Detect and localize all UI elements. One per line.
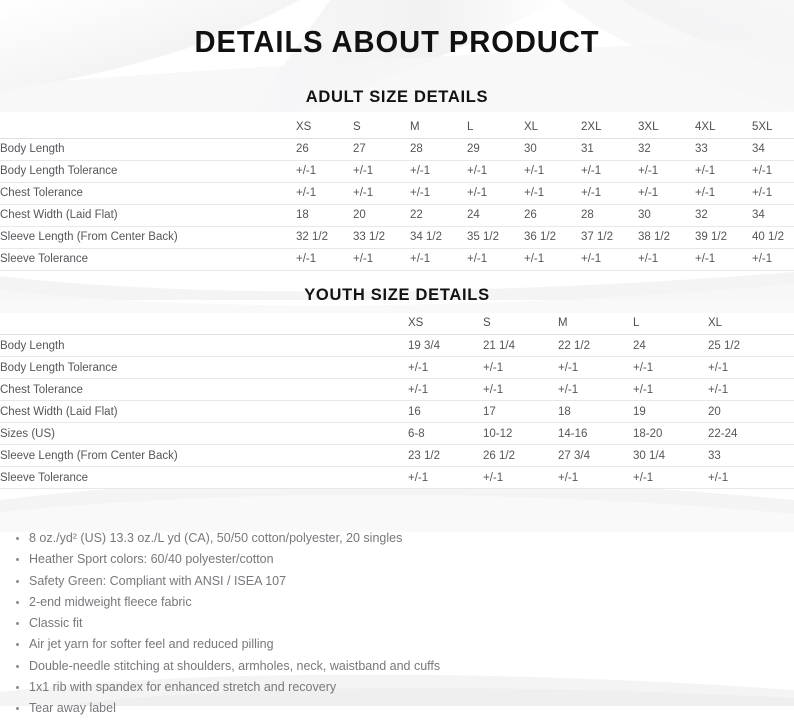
- youth-cell: 19 3/4: [408, 335, 483, 357]
- youth-cell: +/-1: [408, 379, 483, 401]
- youth-row-label: Body Length: [0, 335, 408, 357]
- adult-cell: +/-1: [467, 160, 524, 182]
- youth-cell: 19: [633, 401, 708, 423]
- bullet-dot-icon: [16, 601, 19, 604]
- youth-row-label: Chest Width (Laid Flat): [0, 401, 408, 423]
- table-row: Sleeve Length (From Center Back)23 1/226…: [0, 445, 794, 467]
- adult-cell: +/-1: [353, 160, 410, 182]
- adult-cell: +/-1: [638, 182, 695, 204]
- feature-list-item: Tear away label: [0, 698, 794, 719]
- adult-cell: +/-1: [296, 248, 353, 270]
- youth-cell: 10-12: [483, 423, 558, 445]
- adult-cell: +/-1: [638, 160, 695, 182]
- bullet-dot-icon: [16, 558, 19, 561]
- adult-header-row: XSSMLXL2XL3XL4XL5XL: [0, 116, 794, 138]
- table-row: Sleeve Tolerance+/-1+/-1+/-1+/-1+/-1: [0, 467, 794, 489]
- youth-cell: 14-16: [558, 423, 633, 445]
- adult-cell: +/-1: [524, 160, 581, 182]
- adult-cell: +/-1: [524, 248, 581, 270]
- adult-column-header-4xl: 4XL: [695, 116, 752, 138]
- adult-cell: +/-1: [752, 248, 794, 270]
- table-row: Chest Width (Laid Flat)18202224262830323…: [0, 204, 794, 226]
- youth-cell: +/-1: [483, 357, 558, 379]
- youth-column-header-l: L: [633, 313, 708, 335]
- table-row: Chest Width (Laid Flat)1617181920: [0, 401, 794, 423]
- youth-cell: 25 1/2: [708, 335, 794, 357]
- youth-cell: +/-1: [708, 467, 794, 489]
- adult-cell: 35 1/2: [467, 226, 524, 248]
- feature-list-item: Heather Sport colors: 60/40 polyester/co…: [0, 549, 794, 570]
- adult-cell: 40 1/2: [752, 226, 794, 248]
- youth-cell: 33: [708, 445, 794, 467]
- adult-cell: 36 1/2: [524, 226, 581, 248]
- youth-cell: 23 1/2: [408, 445, 483, 467]
- youth-size-table-container: XSSMLXL Body Length19 3/421 1/422 1/2242…: [0, 313, 794, 490]
- adult-cell: +/-1: [638, 248, 695, 270]
- feature-list-item: Air jet yarn for softer feel and reduced…: [0, 634, 794, 655]
- adult-cell: +/-1: [296, 160, 353, 182]
- adult-cell: +/-1: [695, 248, 752, 270]
- adult-cell: 30: [638, 204, 695, 226]
- adult-column-header-3xl: 3XL: [638, 116, 695, 138]
- adult-cell: +/-1: [524, 182, 581, 204]
- adult-cell: +/-1: [353, 248, 410, 270]
- feature-list-item: 1x1 rib with spandex for enhanced stretc…: [0, 677, 794, 698]
- feature-list-item: Classic fit: [0, 613, 794, 634]
- table-row: Sleeve Length (From Center Back)32 1/233…: [0, 226, 794, 248]
- table-row: Chest Tolerance+/-1+/-1+/-1+/-1+/-1: [0, 379, 794, 401]
- adult-cell: 20: [353, 204, 410, 226]
- youth-cell: +/-1: [408, 357, 483, 379]
- youth-cell: 18-20: [633, 423, 708, 445]
- adult-row-label: Chest Width (Laid Flat): [0, 204, 296, 226]
- adult-cell: +/-1: [581, 160, 638, 182]
- table-row: Body Length19 3/421 1/422 1/22425 1/2: [0, 335, 794, 357]
- adult-cell: 30: [524, 138, 581, 160]
- youth-size-section-title: YOUTH SIZE DETAILS: [0, 271, 794, 305]
- adult-cell: 39 1/2: [695, 226, 752, 248]
- adult-size-table: XSSMLXL2XL3XL4XL5XL Body Length262728293…: [0, 116, 794, 271]
- youth-cell: 17: [483, 401, 558, 423]
- adult-cell: +/-1: [410, 160, 467, 182]
- adult-cell: +/-1: [410, 182, 467, 204]
- feature-text: Air jet yarn for softer feel and reduced…: [29, 637, 274, 651]
- adult-table-body: Body Length262728293031323334Body Length…: [0, 138, 794, 270]
- youth-cell: 20: [708, 401, 794, 423]
- adult-cell: +/-1: [467, 182, 524, 204]
- bullet-dot-icon: [16, 686, 19, 689]
- page-title: DETAILS ABOUT PRODUCT: [24, 0, 770, 62]
- adult-cell: 31: [581, 138, 638, 160]
- youth-cell: 26 1/2: [483, 445, 558, 467]
- feature-list-item: 8 oz./yd² (US) 13.3 oz./L yd (CA), 50/50…: [0, 528, 794, 549]
- youth-cell: 30 1/4: [633, 445, 708, 467]
- bullet-dot-icon: [16, 643, 19, 646]
- feature-list-item: Safety Green: Compliant with ANSI / ISEA…: [0, 571, 794, 592]
- youth-cell: 22-24: [708, 423, 794, 445]
- youth-cell: +/-1: [558, 379, 633, 401]
- feature-text: Tear away label: [29, 701, 116, 715]
- youth-column-header-xs: XS: [408, 313, 483, 335]
- youth-cell: +/-1: [633, 357, 708, 379]
- youth-row-label: Chest Tolerance: [0, 379, 408, 401]
- adult-table-head: XSSMLXL2XL3XL4XL5XL: [0, 116, 794, 138]
- adult-cell: 24: [467, 204, 524, 226]
- youth-column-header-m: M: [558, 313, 633, 335]
- adult-cell: +/-1: [410, 248, 467, 270]
- adult-cell: 26: [296, 138, 353, 160]
- youth-cell: +/-1: [708, 379, 794, 401]
- adult-cell: +/-1: [467, 248, 524, 270]
- youth-cell: +/-1: [483, 379, 558, 401]
- table-row: Body Length Tolerance+/-1+/-1+/-1+/-1+/-…: [0, 357, 794, 379]
- feature-text: Safety Green: Compliant with ANSI / ISEA…: [29, 574, 286, 588]
- table-row: Body Length262728293031323334: [0, 138, 794, 160]
- adult-size-table-container: XSSMLXL2XL3XL4XL5XL Body Length262728293…: [0, 116, 794, 271]
- feature-text: 8 oz./yd² (US) 13.3 oz./L yd (CA), 50/50…: [29, 531, 402, 545]
- feature-list-item: 2-end midweight fleece fabric: [0, 592, 794, 613]
- table-row: Chest Tolerance+/-1+/-1+/-1+/-1+/-1+/-1+…: [0, 182, 794, 204]
- table-row: Sizes (US)6-810-1214-1618-2022-24: [0, 423, 794, 445]
- youth-cell: +/-1: [408, 467, 483, 489]
- adult-cell: 28: [581, 204, 638, 226]
- youth-table-head: XSSMLXL: [0, 313, 794, 335]
- youth-row-label: Sizes (US): [0, 423, 408, 445]
- adult-row-label: Sleeve Length (From Center Back): [0, 226, 296, 248]
- adult-column-header-s: S: [353, 116, 410, 138]
- adult-column-header-xl: XL: [524, 116, 581, 138]
- bullet-dot-icon: [16, 707, 19, 710]
- adult-column-header-2xl: 2XL: [581, 116, 638, 138]
- youth-row-label: Sleeve Tolerance: [0, 467, 408, 489]
- youth-cell: 24: [633, 335, 708, 357]
- adult-cell: +/-1: [695, 160, 752, 182]
- adult-cell: 38 1/2: [638, 226, 695, 248]
- youth-header-row: XSSMLXL: [0, 313, 794, 335]
- youth-cell: +/-1: [708, 357, 794, 379]
- adult-cell: 32: [638, 138, 695, 160]
- adult-cell: +/-1: [752, 182, 794, 204]
- adult-cell: +/-1: [353, 182, 410, 204]
- feature-text: 1x1 rib with spandex for enhanced stretc…: [29, 680, 336, 694]
- youth-cell: +/-1: [633, 467, 708, 489]
- adult-cell: 32 1/2: [296, 226, 353, 248]
- bullet-dot-icon: [16, 580, 19, 583]
- adult-column-header-m: M: [410, 116, 467, 138]
- youth-header-blank: [0, 313, 408, 335]
- adult-cell: 26: [524, 204, 581, 226]
- youth-cell: +/-1: [483, 467, 558, 489]
- feature-text: Heather Sport colors: 60/40 polyester/co…: [29, 552, 274, 566]
- feature-text: Classic fit: [29, 616, 82, 630]
- bullet-dot-icon: [16, 622, 19, 625]
- adult-cell: 32: [695, 204, 752, 226]
- adult-column-header-l: L: [467, 116, 524, 138]
- adult-cell: 22: [410, 204, 467, 226]
- product-details-page: DETAILS ABOUT PRODUCT ADULT SIZE DETAILS…: [0, 0, 794, 706]
- adult-row-label: Body Length: [0, 138, 296, 160]
- adult-row-label: Chest Tolerance: [0, 182, 296, 204]
- product-features-list: 8 oz./yd² (US) 13.3 oz./L yd (CA), 50/50…: [0, 528, 794, 720]
- adult-cell: +/-1: [695, 182, 752, 204]
- adult-cell: +/-1: [581, 248, 638, 270]
- adult-size-section-title: ADULT SIZE DETAILS: [0, 62, 794, 107]
- youth-cell: 22 1/2: [558, 335, 633, 357]
- bullet-dot-icon: [16, 537, 19, 540]
- adult-cell: 34: [752, 138, 794, 160]
- table-row: Body Length Tolerance+/-1+/-1+/-1+/-1+/-…: [0, 160, 794, 182]
- table-row: Sleeve Tolerance+/-1+/-1+/-1+/-1+/-1+/-1…: [0, 248, 794, 270]
- youth-row-label: Body Length Tolerance: [0, 357, 408, 379]
- adult-cell: 37 1/2: [581, 226, 638, 248]
- adult-cell: +/-1: [296, 182, 353, 204]
- youth-size-table: XSSMLXL Body Length19 3/421 1/422 1/2242…: [0, 313, 794, 490]
- youth-table-body: Body Length19 3/421 1/422 1/22425 1/2Bod…: [0, 335, 794, 489]
- youth-cell: 16: [408, 401, 483, 423]
- youth-cell: 18: [558, 401, 633, 423]
- feature-text: 2-end midweight fleece fabric: [29, 595, 192, 609]
- adult-cell: 34: [752, 204, 794, 226]
- adult-cell: 27: [353, 138, 410, 160]
- adult-cell: +/-1: [581, 182, 638, 204]
- youth-cell: +/-1: [633, 379, 708, 401]
- adult-row-label: Body Length Tolerance: [0, 160, 296, 182]
- adult-column-header-5xl: 5XL: [752, 116, 794, 138]
- bullet-dot-icon: [16, 665, 19, 668]
- youth-cell: 6-8: [408, 423, 483, 445]
- feature-list-item: Double-needle stitching at shoulders, ar…: [0, 656, 794, 677]
- adult-cell: 29: [467, 138, 524, 160]
- youth-column-header-xl: XL: [708, 313, 794, 335]
- youth-cell: 21 1/4: [483, 335, 558, 357]
- youth-column-header-s: S: [483, 313, 558, 335]
- adult-cell: 28: [410, 138, 467, 160]
- adult-cell: 18: [296, 204, 353, 226]
- youth-cell: +/-1: [558, 357, 633, 379]
- adult-cell: 33: [695, 138, 752, 160]
- youth-cell: 27 3/4: [558, 445, 633, 467]
- youth-cell: +/-1: [558, 467, 633, 489]
- adult-column-header-xs: XS: [296, 116, 353, 138]
- youth-row-label: Sleeve Length (From Center Back): [0, 445, 408, 467]
- adult-cell: +/-1: [752, 160, 794, 182]
- adult-header-blank: [0, 116, 296, 138]
- feature-text: Double-needle stitching at shoulders, ar…: [29, 659, 440, 673]
- adult-cell: 33 1/2: [353, 226, 410, 248]
- adult-row-label: Sleeve Tolerance: [0, 248, 296, 270]
- adult-cell: 34 1/2: [410, 226, 467, 248]
